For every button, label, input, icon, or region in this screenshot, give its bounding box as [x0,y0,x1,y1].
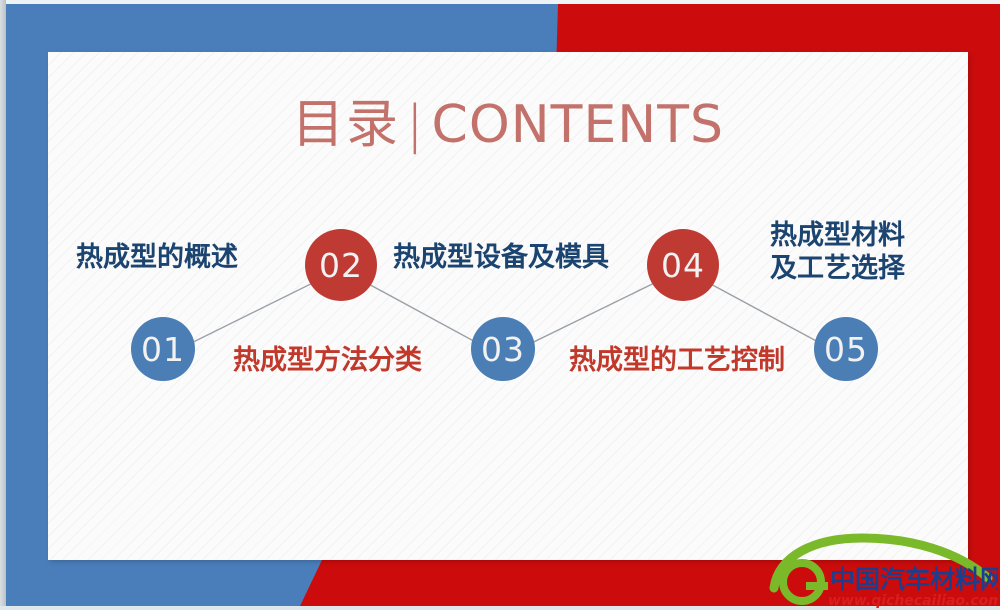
item-badge-05[interactable]: 05 [814,317,878,381]
item-badge-02[interactable]: 02 [305,229,377,301]
item-badge-03[interactable]: 03 [471,317,535,381]
frame-red-bottom-wedge [300,560,1000,606]
item-label-05-line2: 及工艺选择 [770,253,940,286]
item-badge-04[interactable]: 04 [647,229,719,301]
frame-left-edge [0,0,6,610]
item-label-05[interactable]: 热成型材料 及工艺选择 [770,220,940,286]
item-badge-05-number: 05 [824,330,868,369]
slide-root: 目录|CONTENTS 01 02 03 04 05 热成型的概述 热成型方法分… [0,0,1000,610]
item-badge-04-number: 04 [661,246,705,285]
item-badge-01[interactable]: 01 [131,317,195,381]
item-badge-03-number: 03 [481,330,525,369]
item-label-04[interactable]: 热成型的工艺控制 [569,345,785,378]
item-label-03[interactable]: 热成型设备及模具 [393,242,609,275]
item-badge-01-number: 01 [141,330,185,369]
frame-bottom-edge [0,606,1000,610]
item-label-02[interactable]: 热成型方法分类 [233,345,422,378]
item-label-05-line1: 热成型材料 [770,220,940,253]
connector-lines [48,52,968,560]
frame-top-edge [0,0,1000,4]
item-label-01[interactable]: 热成型的概述 [76,242,238,275]
item-badge-02-number: 02 [319,246,363,285]
slide-canvas: 目录|CONTENTS 01 02 03 04 05 热成型的概述 热成型方法分… [48,52,968,560]
